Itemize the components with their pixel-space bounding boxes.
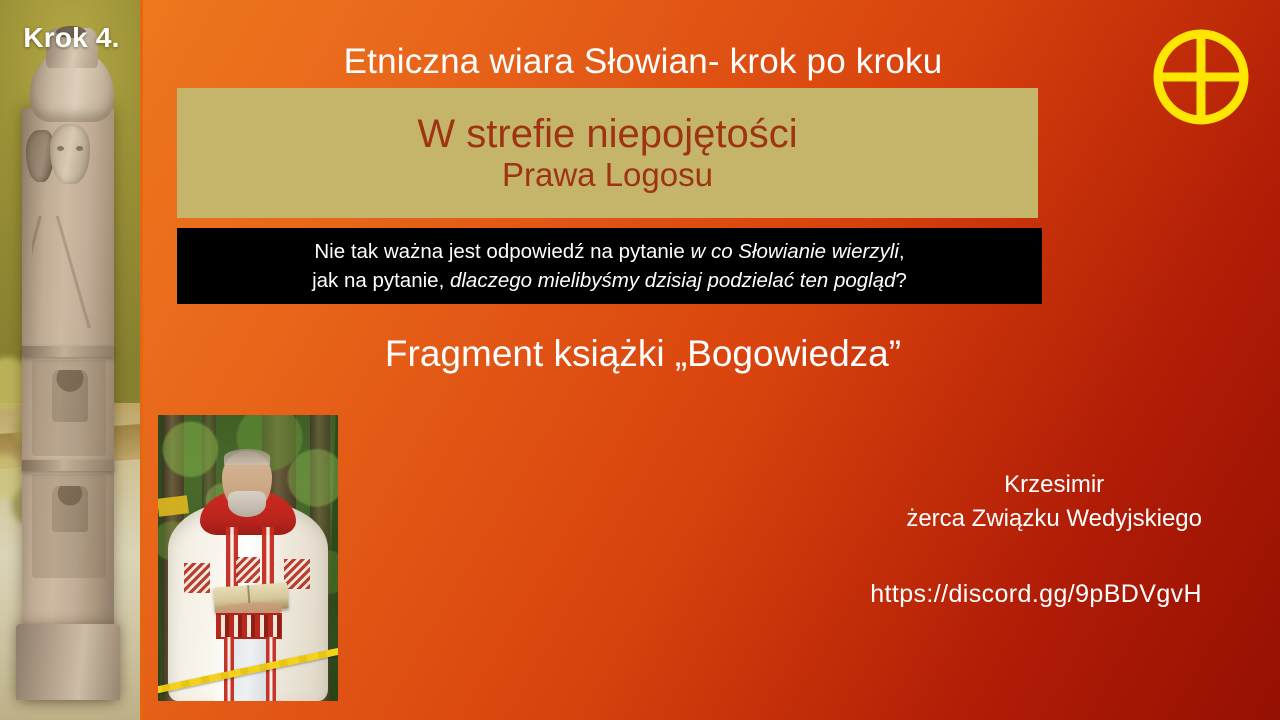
author-name: Krzesimir	[906, 468, 1202, 502]
author-role: żerca Związku Wedyjskiego	[906, 502, 1202, 536]
robe-stripe	[224, 637, 234, 701]
quote-line-1-plain: Nie tak ważna jest odpowiedź na pytanie	[314, 240, 690, 263]
idol-figure-middle	[52, 370, 88, 422]
subtitle-secondary: Prawa Logosu	[502, 157, 713, 194]
robe-embroidery	[236, 557, 260, 583]
quote-line-1-italic: w co Słowianie wierzyli	[690, 240, 898, 263]
page-title: Etniczna wiara Słowian- krok po kroku	[143, 42, 1143, 82]
author-block: Krzesimir żerca Związku Wedyjskiego	[906, 468, 1202, 536]
quote-line-2-plain: jak na pytanie,	[312, 269, 450, 292]
presentation-slide: Krok 4. Etniczna wiara Słowian- krok po …	[0, 0, 1280, 720]
sun-cross-icon	[1150, 26, 1252, 128]
quote-line-2-italic: dlaczego mielibyśmy dzisiaj podzielać te…	[450, 269, 896, 292]
priest-reading-book-photo	[158, 415, 338, 701]
robe-embroidery	[184, 563, 210, 593]
quote-line-1-tail: ,	[899, 240, 905, 263]
zbruch-idol-photo: Krok 4.	[0, 0, 143, 720]
priest-beard	[228, 491, 266, 517]
subtitle-primary: W strefie niepojętości	[417, 112, 797, 157]
quote-box: Nie tak ważna jest odpowiedź na pytanie …	[177, 228, 1042, 304]
step-label: Krok 4.	[0, 22, 143, 54]
robe-embroidery	[284, 559, 310, 589]
idol-band-lower	[22, 460, 114, 471]
quote-line-2-tail: ?	[896, 269, 907, 292]
fragment-title: Fragment książki „Bogowiedza”	[143, 333, 1143, 375]
idol-pillar	[22, 108, 114, 700]
priest-belt	[216, 613, 282, 639]
idol-band-upper	[22, 346, 114, 357]
quote-line-1: Nie tak ważna jest odpowiedź na pytanie …	[314, 237, 904, 266]
idol-base	[16, 624, 120, 700]
idol-hat	[30, 50, 114, 122]
quote-line-2: jak na pytanie, dlaczego mielibyśmy dzis…	[312, 266, 907, 295]
yellow-sign	[158, 495, 189, 517]
idol-arms-carving	[32, 216, 106, 328]
subtitle-box: W strefie niepojętości Prawa Logosu	[177, 88, 1038, 218]
discord-link[interactable]: https://discord.gg/9pBDVgvH	[870, 580, 1202, 609]
idol-figure-lower	[52, 486, 88, 532]
idol-front-face	[50, 124, 90, 184]
